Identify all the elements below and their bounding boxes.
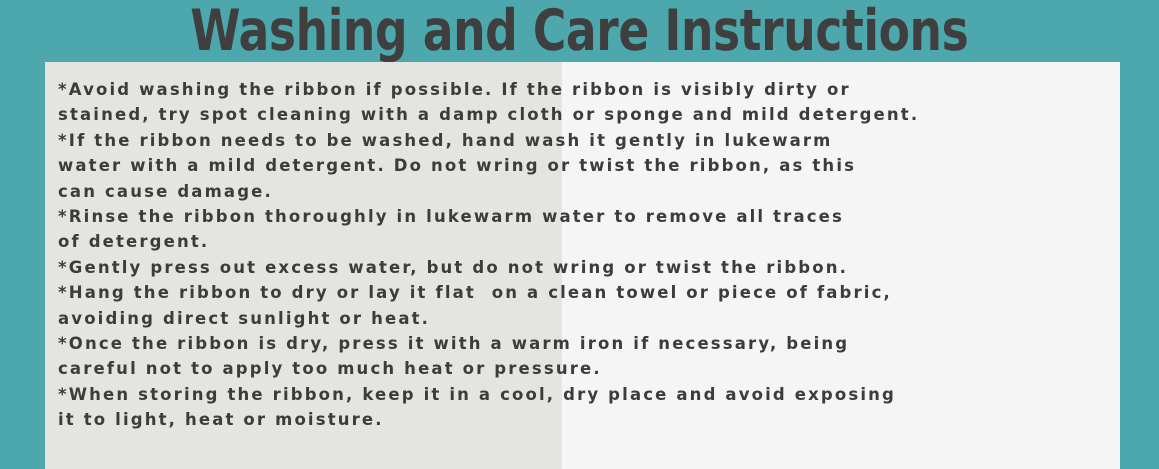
instruction-line: stained, try spot cleaning with a damp c… bbox=[58, 102, 1120, 127]
instruction-line: water with a mild detergent. Do not wrin… bbox=[58, 153, 1120, 178]
instruction-line: can cause damage. bbox=[58, 179, 1120, 204]
instructions-card: *Avoid washing the ribbon if possible. I… bbox=[45, 62, 1120, 469]
instruction-line: *Avoid washing the ribbon if possible. I… bbox=[58, 77, 1120, 102]
instruction-line: *When storing the ribbon, keep it in a c… bbox=[58, 382, 1120, 407]
instruction-line: *Gently press out excess water, but do n… bbox=[58, 255, 1120, 280]
instruction-line: *Rinse the ribbon thoroughly in lukewarm… bbox=[58, 204, 1120, 229]
instruction-line: of detergent. bbox=[58, 229, 1120, 254]
instruction-line: *If the ribbon needs to be washed, hand … bbox=[58, 128, 1120, 153]
instruction-line: avoiding direct sunlight or heat. bbox=[58, 306, 1120, 331]
instruction-line: it to light, heat or moisture. bbox=[58, 407, 1120, 432]
instructions-text-block: *Avoid washing the ribbon if possible. I… bbox=[58, 77, 1120, 433]
instruction-line: careful not to apply too much heat or pr… bbox=[58, 356, 1120, 381]
page-title: Washing and Care Instructions bbox=[190, 2, 968, 60]
instruction-line: *Once the ribbon is dry, press it with a… bbox=[58, 331, 1120, 356]
washing-care-instructions-poster: Washing and Care Instructions *Avoid was… bbox=[0, 0, 1159, 469]
instruction-line: *Hang the ribbon to dry or lay it flat o… bbox=[58, 280, 1120, 305]
title-bar: Washing and Care Instructions bbox=[0, 0, 1159, 62]
